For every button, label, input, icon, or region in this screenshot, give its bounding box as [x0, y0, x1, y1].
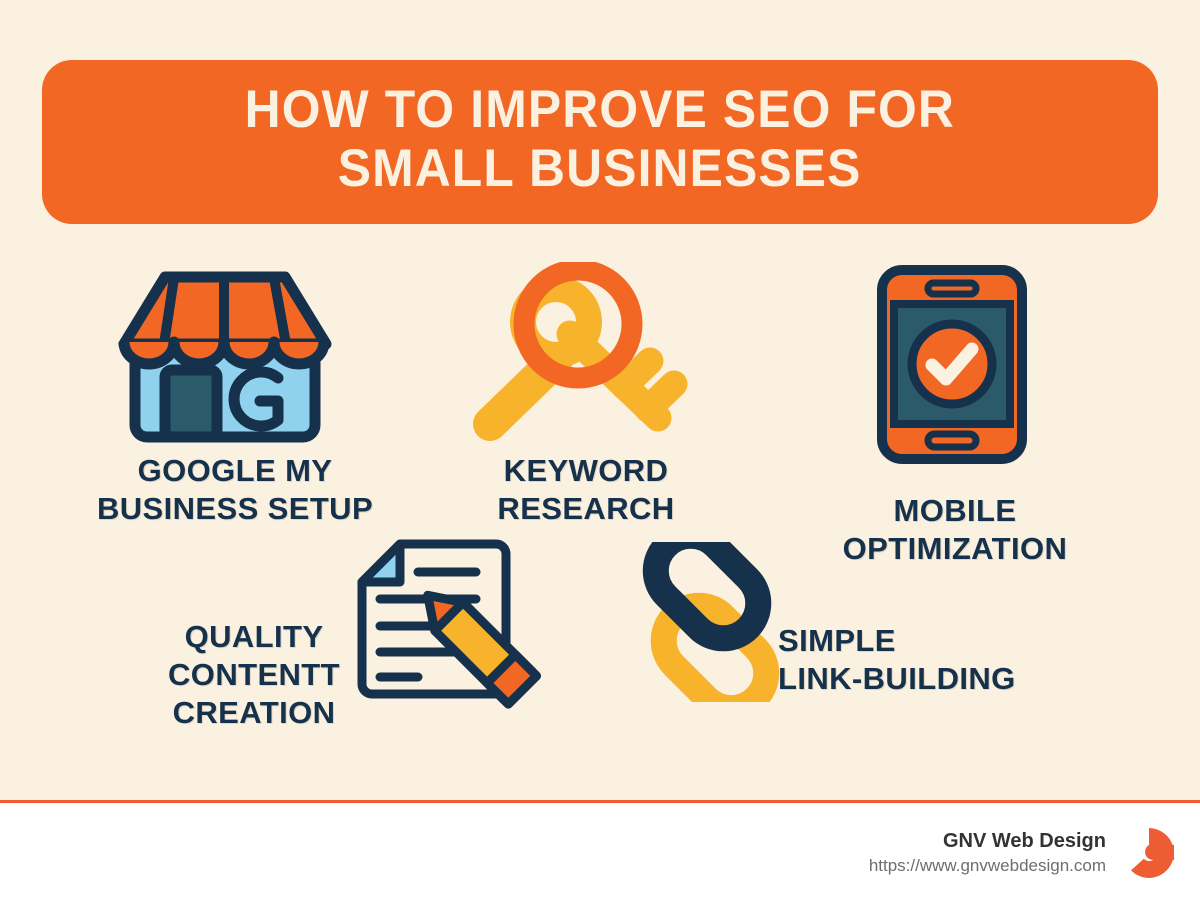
chain-link-icon [636, 542, 786, 707]
item-label-mobile: MOBILE OPTIMIZATION [808, 492, 1102, 568]
footer-url[interactable]: https://www.gnvwebdesign.com [869, 855, 1106, 878]
mobile-check-icon [872, 262, 1032, 472]
storefront-icon [110, 262, 340, 452]
footer-bar: GNV Web Design https://www.gnvwebdesign.… [0, 803, 1200, 902]
footer-text-block: GNV Web Design https://www.gnvwebdesign.… [869, 828, 1106, 878]
infographic-canvas: HOW TO IMPROVE SEO FOR SMALL BUSINESSES … [0, 0, 1200, 902]
document-pencil-icon [348, 532, 548, 717]
item-label-content: QUALITY CONTENTT CREATION [148, 618, 360, 731]
title-banner: HOW TO IMPROVE SEO FOR SMALL BUSINESSES [42, 60, 1158, 224]
item-label-link: SIMPLE LINK-BUILDING [778, 622, 1078, 698]
gnv-g-logo-icon [1120, 824, 1178, 882]
magnifier-key-icon [468, 262, 708, 452]
item-label-keyword: KEYWORD RESEARCH [460, 452, 712, 528]
footer-brand-name: GNV Web Design [869, 828, 1106, 855]
title-line-1: HOW TO IMPROVE SEO FOR [245, 80, 955, 139]
item-label-gmb: GOOGLE MY BUSINESS SETUP [60, 452, 410, 528]
title-line-2: SMALL BUSINESSES [338, 139, 862, 198]
